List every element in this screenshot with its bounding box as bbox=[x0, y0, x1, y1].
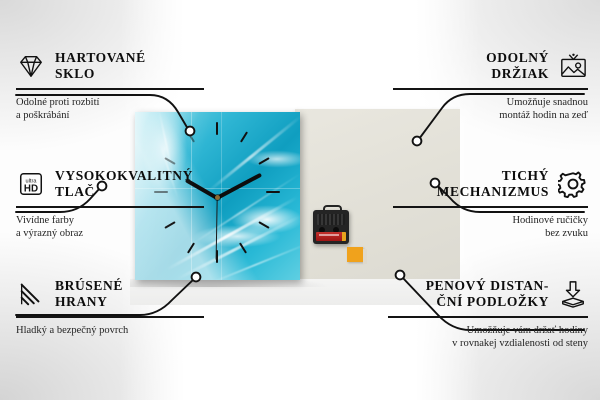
feature-divider bbox=[388, 316, 588, 318]
feature-title-line-2: SKLO bbox=[55, 66, 146, 82]
feature-title-line-1: HARTOVANÉ bbox=[55, 50, 146, 66]
feature-durable-hanger: ODOLNÝ DRŽIAK Umožňuje snadnou montáž ho… bbox=[393, 50, 588, 122]
feature-description: Umožňuje vám držať hodiny v rovnakej vzd… bbox=[388, 324, 588, 350]
feature-title: TICHÝ MECHANIZMUS bbox=[437, 168, 549, 200]
feature-description-line-2: bez zvuku bbox=[393, 227, 588, 240]
feature-description-line-2: v rovnakej vzdialenosti od steny bbox=[388, 337, 588, 350]
feature-description-line-1: Hodinové ručičky bbox=[393, 214, 588, 227]
feature-title-line-2: ČNÍ PODLOŽKY bbox=[426, 294, 549, 310]
feature-divider bbox=[16, 316, 204, 318]
feature-description-line-2: a výrazný obraz bbox=[16, 227, 204, 240]
feature-header: ODOLNÝ DRŽIAK bbox=[393, 50, 588, 82]
arrow-down-onto-pad-icon bbox=[558, 280, 588, 308]
clock-mechanism bbox=[313, 210, 349, 244]
feature-description: Hladký a bezpečný povrch bbox=[16, 324, 204, 337]
feature-title-line-1: TICHÝ bbox=[437, 168, 549, 184]
diamond-icon bbox=[16, 52, 46, 80]
battery bbox=[316, 232, 346, 241]
feature-description-line-1: Vivídne farby bbox=[16, 214, 204, 227]
feature-header: TICHÝ MECHANIZMUS bbox=[393, 168, 588, 200]
feature-header: HARTOVANÉ SKLO bbox=[16, 50, 204, 82]
feature-title: BRÚSENÉ HRANY bbox=[55, 278, 123, 310]
mechanism-grill bbox=[317, 214, 345, 225]
ultra-hd-badge-icon: ultra HD bbox=[16, 170, 46, 198]
feature-title: PENOVÝ DISTAN- ČNÍ PODLOŽKY bbox=[426, 278, 549, 310]
feature-foam-spacers: PENOVÝ DISTAN- ČNÍ PODLOŽKY Umožňuje vám… bbox=[388, 278, 588, 350]
feature-title-line-1: ODOLNÝ bbox=[486, 50, 549, 66]
feature-title-line-2: MECHANIZMUS bbox=[437, 184, 549, 200]
feature-description: Umožňuje snadnou montáž hodin na zeď bbox=[393, 96, 588, 122]
feature-divider bbox=[393, 88, 588, 90]
feature-tempered-glass: HARTOVANÉ SKLO Odolné proti rozbití a po… bbox=[16, 50, 204, 122]
feature-divider bbox=[16, 206, 204, 208]
battery-label-stripe bbox=[319, 234, 339, 236]
feature-description: Odolné proti rozbití a poškrábání bbox=[16, 96, 204, 122]
infographic-canvas: HARTOVANÉ SKLO Odolné proti rozbití a po… bbox=[0, 0, 600, 400]
feature-description-line-1: Hladký a bezpečný povrch bbox=[16, 324, 204, 337]
feature-title-line-2: DRŽIAK bbox=[486, 66, 549, 82]
feature-title: HARTOVANÉ SKLO bbox=[55, 50, 146, 82]
feature-description-line-1: Odolné proti rozbití bbox=[16, 96, 204, 109]
feature-description-line-2: montáž hodin na zeď bbox=[393, 109, 588, 122]
feature-description: Vivídne farby a výrazný obraz bbox=[16, 214, 204, 240]
hd-label: HD bbox=[24, 183, 38, 194]
feature-polished-edges: BRÚSENÉ HRANY Hladký a bezpečný povrch bbox=[16, 278, 204, 337]
feature-header: ultra HD VYSOKOKVALITNÝ TLAČ bbox=[16, 168, 204, 200]
feature-title-line-1: BRÚSENÉ bbox=[55, 278, 123, 294]
feature-hd-print: ultra HD VYSOKOKVALITNÝ TLAČ Vivídne far… bbox=[16, 168, 204, 240]
gear-icon bbox=[558, 170, 588, 198]
feature-description: Hodinové ručičky bez zvuku bbox=[393, 214, 588, 240]
diagonal-lines-icon bbox=[16, 280, 46, 308]
feature-divider bbox=[16, 88, 204, 90]
picture-frame-hanger-icon bbox=[558, 52, 588, 80]
feature-title-line-1: VYSOKOKVALITNÝ bbox=[55, 168, 193, 184]
feature-description-line-2: a poškrábání bbox=[16, 109, 204, 122]
feature-title: VYSOKOKVALITNÝ TLAČ bbox=[55, 168, 193, 200]
mechanism-hanger-loop bbox=[323, 205, 342, 214]
feature-divider bbox=[393, 206, 588, 208]
feature-header: PENOVÝ DISTAN- ČNÍ PODLOŽKY bbox=[388, 278, 588, 310]
foam-spacer-pad-side bbox=[363, 249, 367, 264]
feature-header: BRÚSENÉ HRANY bbox=[16, 278, 204, 310]
feature-title-line-1: PENOVÝ DISTAN- bbox=[426, 278, 549, 294]
feature-title: ODOLNÝ DRŽIAK bbox=[486, 50, 549, 82]
feature-description-line-1: Umožňuje snadnou bbox=[393, 96, 588, 109]
battery-terminal bbox=[342, 232, 346, 241]
feature-silent-mechanism: TICHÝ MECHANIZMUS Hodinové ručičky bez z… bbox=[393, 168, 588, 240]
feature-title-line-2: TLAČ bbox=[55, 184, 193, 200]
feature-description-line-1: Umožňuje vám držať hodiny bbox=[388, 324, 588, 337]
feature-title-line-2: HRANY bbox=[55, 294, 123, 310]
foam-spacer-pad bbox=[347, 247, 363, 262]
